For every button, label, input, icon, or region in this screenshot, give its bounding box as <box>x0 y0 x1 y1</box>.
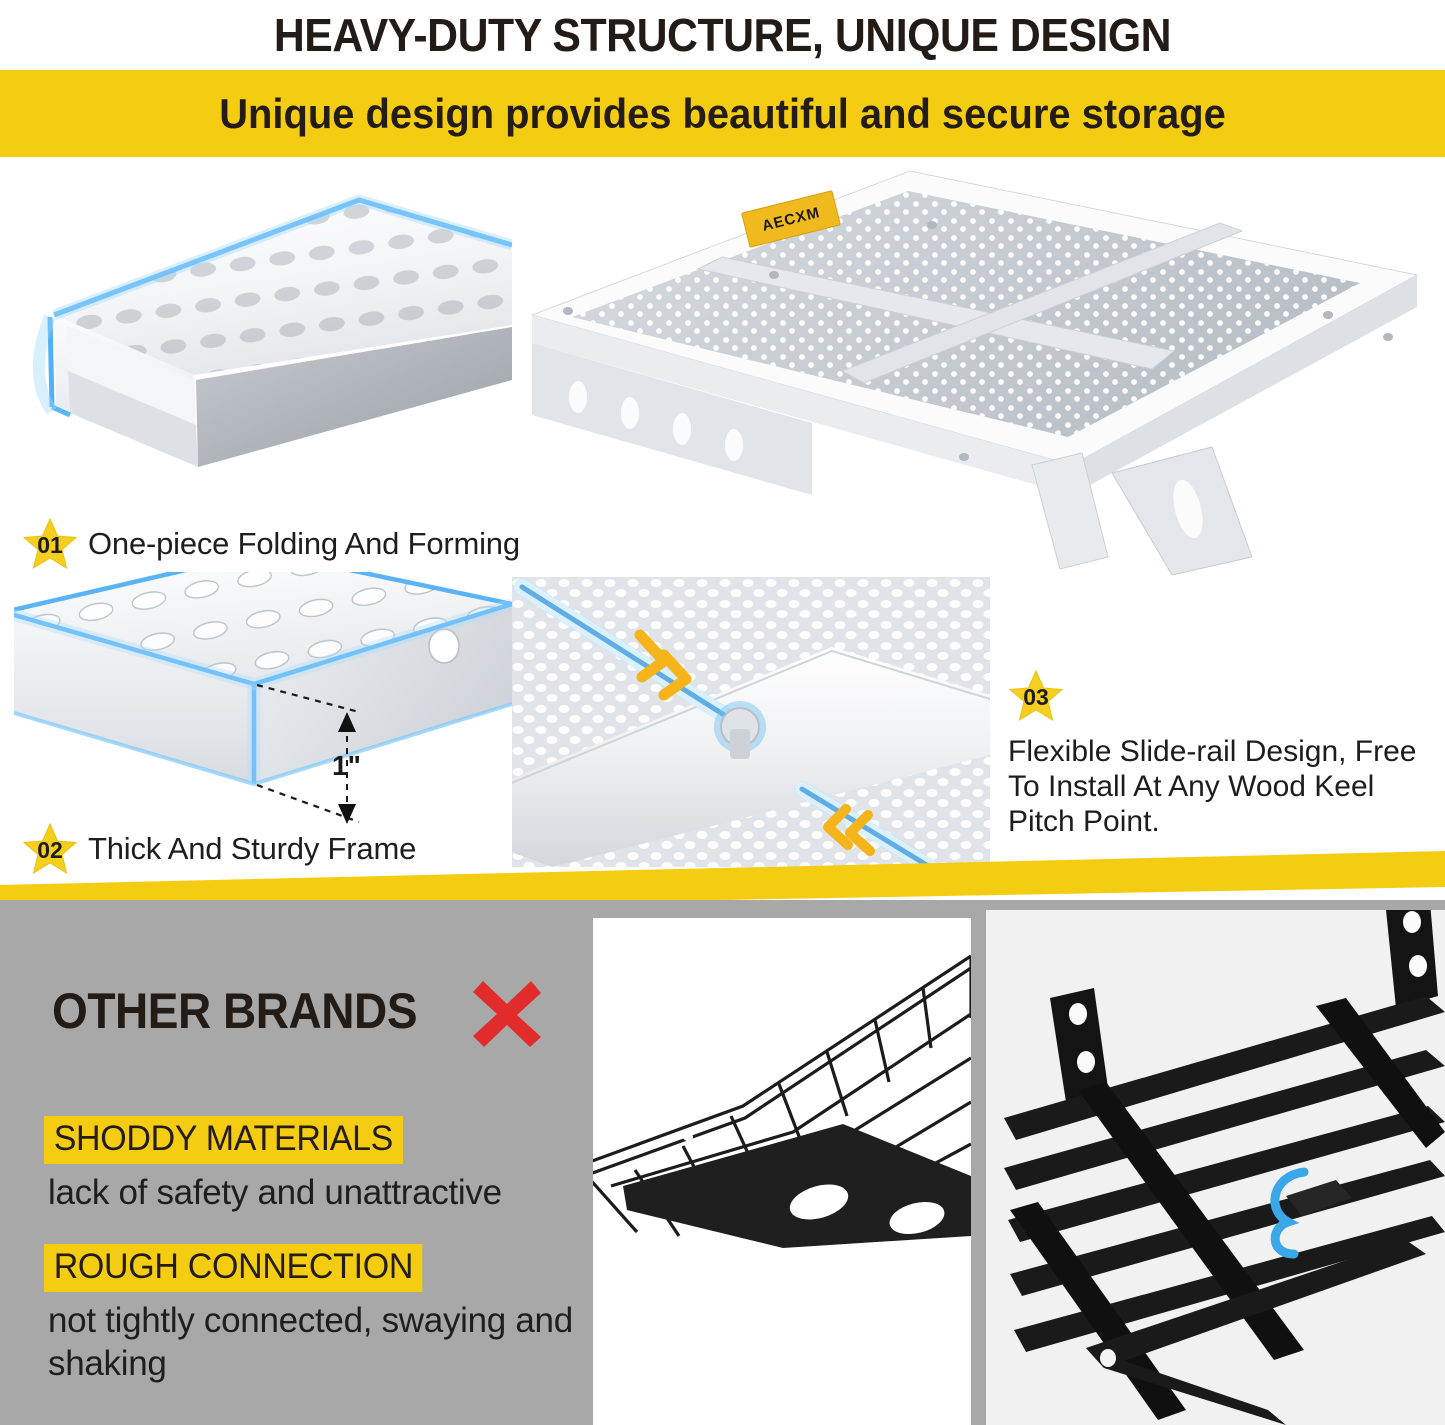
header-title: HEAVY-DUTY STRUCTURE, UNIQUE DESIGN <box>51 0 1395 70</box>
feature-image-thick-sturdy-frame: 1" <box>14 572 512 862</box>
shelf-corner-illustration <box>14 572 512 862</box>
other-brands-heading: OTHER BRANDS <box>52 975 543 1047</box>
slide-rail-illustration <box>512 577 990 867</box>
feature-caption-03: 03 Flexible Slide-rail Design, Free To I… <box>1008 669 1433 839</box>
competitor-metal-rack-photo <box>986 910 1445 1425</box>
feature-image-slide-rail <box>512 577 990 867</box>
drawback-body: not tightly connected, swaying and shaki… <box>48 1300 588 1385</box>
feature-number: 03 <box>1008 669 1064 723</box>
header-subtitle: Unique design provides beautiful and sec… <box>36 70 1409 157</box>
feature-image-one-piece-folding <box>14 175 512 520</box>
star-badge-icon: 01 <box>22 517 78 571</box>
shelf-edge-illustration <box>14 175 512 520</box>
drawback-body: lack of safety and unattractive <box>48 1172 502 1215</box>
other-brands-label: OTHER BRANDS <box>52 982 417 1040</box>
feature-label: One-piece Folding And Forming <box>88 526 520 562</box>
drawback-item-2: ROUGH CONNECTION not tightly connected, … <box>44 1244 588 1385</box>
features-section: 1" <box>0 157 1445 885</box>
feature-label: Flexible Slide-rail Design, Free To Inst… <box>1008 734 1433 839</box>
feature-caption-01: 01 One-piece Folding And Forming <box>22 517 520 571</box>
drawback-highlight: SHODDY MATERIALS <box>44 1116 403 1164</box>
garage-shelf-illustration <box>512 165 1437 575</box>
star-badge-icon: 03 <box>1008 669 1064 723</box>
hero-product-image: AECXM <box>512 165 1437 575</box>
drawback-item-1: SHODDY MATERIALS lack of safety and unat… <box>44 1116 502 1215</box>
x-mark-icon <box>471 975 543 1047</box>
other-brands-section: OTHER BRANDS SHODDY MATERIALS lack of sa… <box>0 900 1445 1425</box>
feature-number: 01 <box>22 517 78 571</box>
competitor-wire-mesh-photo <box>593 918 971 1425</box>
infographic-page: HEAVY-DUTY STRUCTURE, UNIQUE DESIGN Uniq… <box>0 0 1445 1425</box>
dimension-label: 1" <box>332 750 361 782</box>
drawback-highlight: ROUGH CONNECTION <box>44 1244 423 1292</box>
metal-frame-rack-illustration <box>986 910 1445 1425</box>
wire-mesh-shelf-illustration <box>593 918 971 1425</box>
